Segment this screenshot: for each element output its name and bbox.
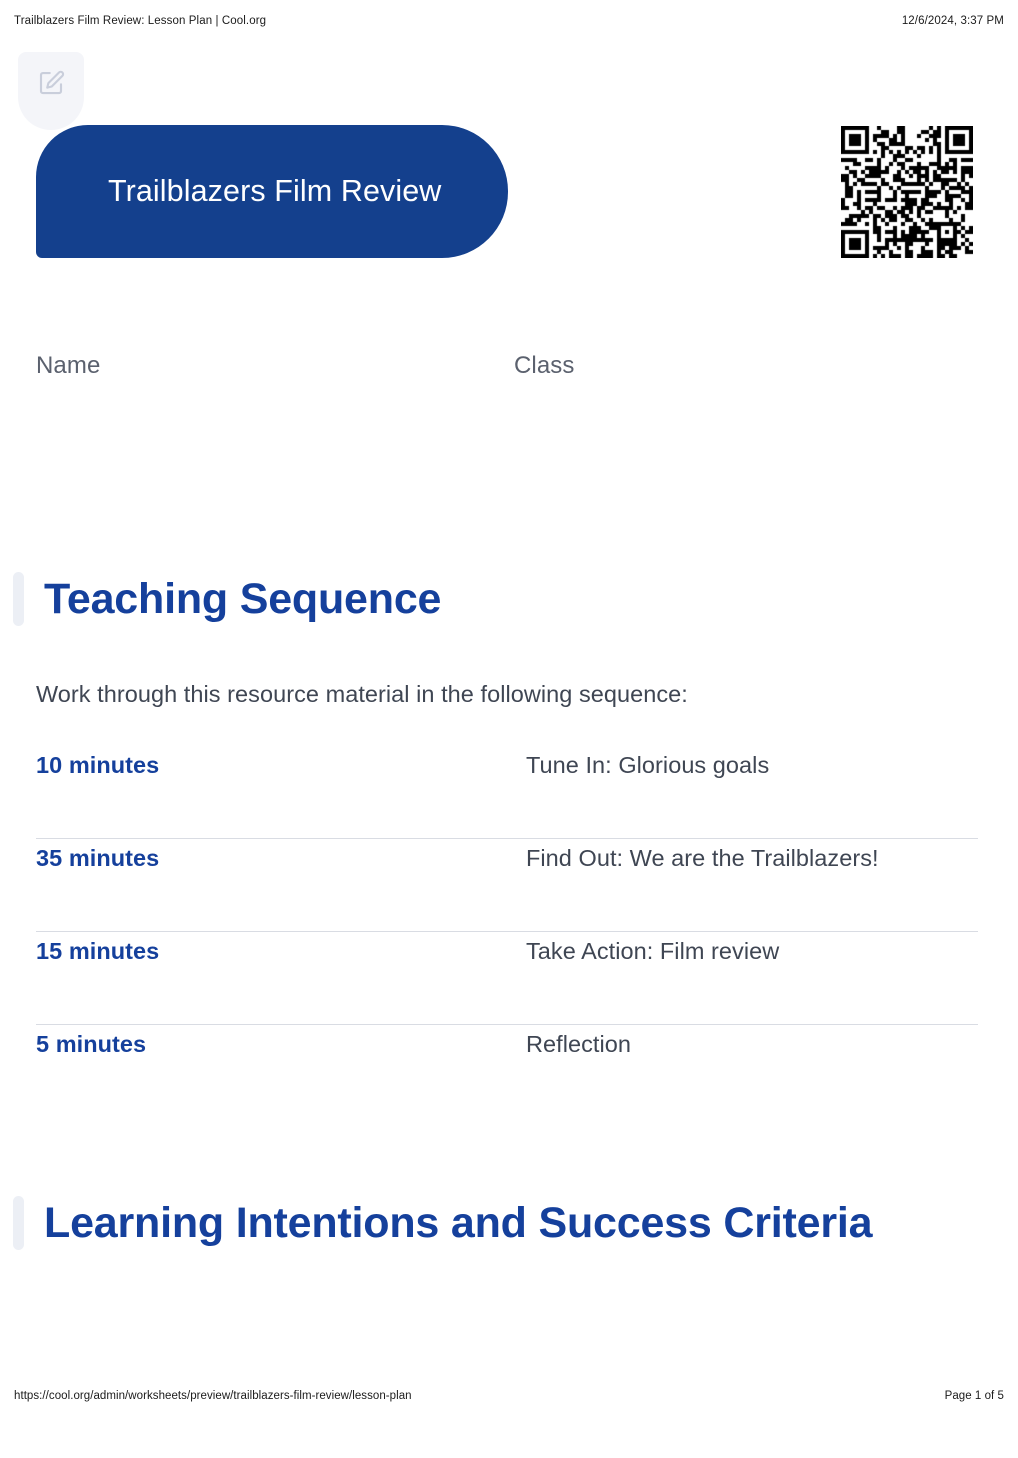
row-activity: Tune In: Glorious goals (526, 752, 978, 779)
print-footer: https://cool.org/admin/worksheets/previe… (0, 1386, 1018, 1406)
row-duration: 10 minutes (36, 752, 526, 779)
row-duration: 5 minutes (36, 1031, 526, 1058)
row-duration: 15 minutes (36, 938, 526, 965)
edit-chip[interactable] (18, 52, 84, 130)
worksheet-page: Trailblazers Film Review Name Class Teac… (0, 0, 1018, 1458)
heading-text: Learning Intentions and Success Criteria (44, 1196, 872, 1252)
print-footer-url: https://cool.org/admin/worksheets/previe… (14, 1390, 412, 1402)
table-row: 35 minutes Find Out: We are the Trailbla… (36, 839, 978, 932)
table-row: 15 minutes Take Action: Film review (36, 932, 978, 1025)
class-label: Class (514, 352, 575, 380)
table-row: 5 minutes Reflection (36, 1025, 978, 1118)
teaching-sequence-table: 10 minutes Tune In: Glorious goals 35 mi… (36, 746, 978, 1118)
row-activity: Reflection (526, 1031, 978, 1058)
row-activity: Find Out: We are the Trailblazers! (526, 845, 978, 872)
heading-accent-bar (13, 1196, 24, 1250)
edit-square-pencil-icon (36, 68, 66, 98)
name-label: Name (36, 352, 100, 380)
row-activity: Take Action: Film review (526, 938, 978, 965)
section-heading-learning-intentions: Learning Intentions and Success Criteria (13, 1196, 963, 1252)
heading-accent-bar (13, 572, 24, 626)
row-duration: 35 minutes (36, 845, 526, 872)
teaching-sequence-intro: Work through this resource material in t… (36, 678, 976, 711)
worksheet-title-badge: Trailblazers Film Review (36, 125, 508, 258)
heading-text: Teaching Sequence (44, 572, 441, 628)
qr-code-icon[interactable] (841, 126, 973, 258)
student-meta-row: Name Class (36, 352, 976, 388)
page-title: Trailblazers Film Review (108, 171, 441, 212)
print-footer-page: Page 1 of 5 (945, 1390, 1004, 1402)
table-row: 10 minutes Tune In: Glorious goals (36, 746, 978, 839)
section-heading-teaching-sequence: Teaching Sequence (13, 572, 943, 628)
